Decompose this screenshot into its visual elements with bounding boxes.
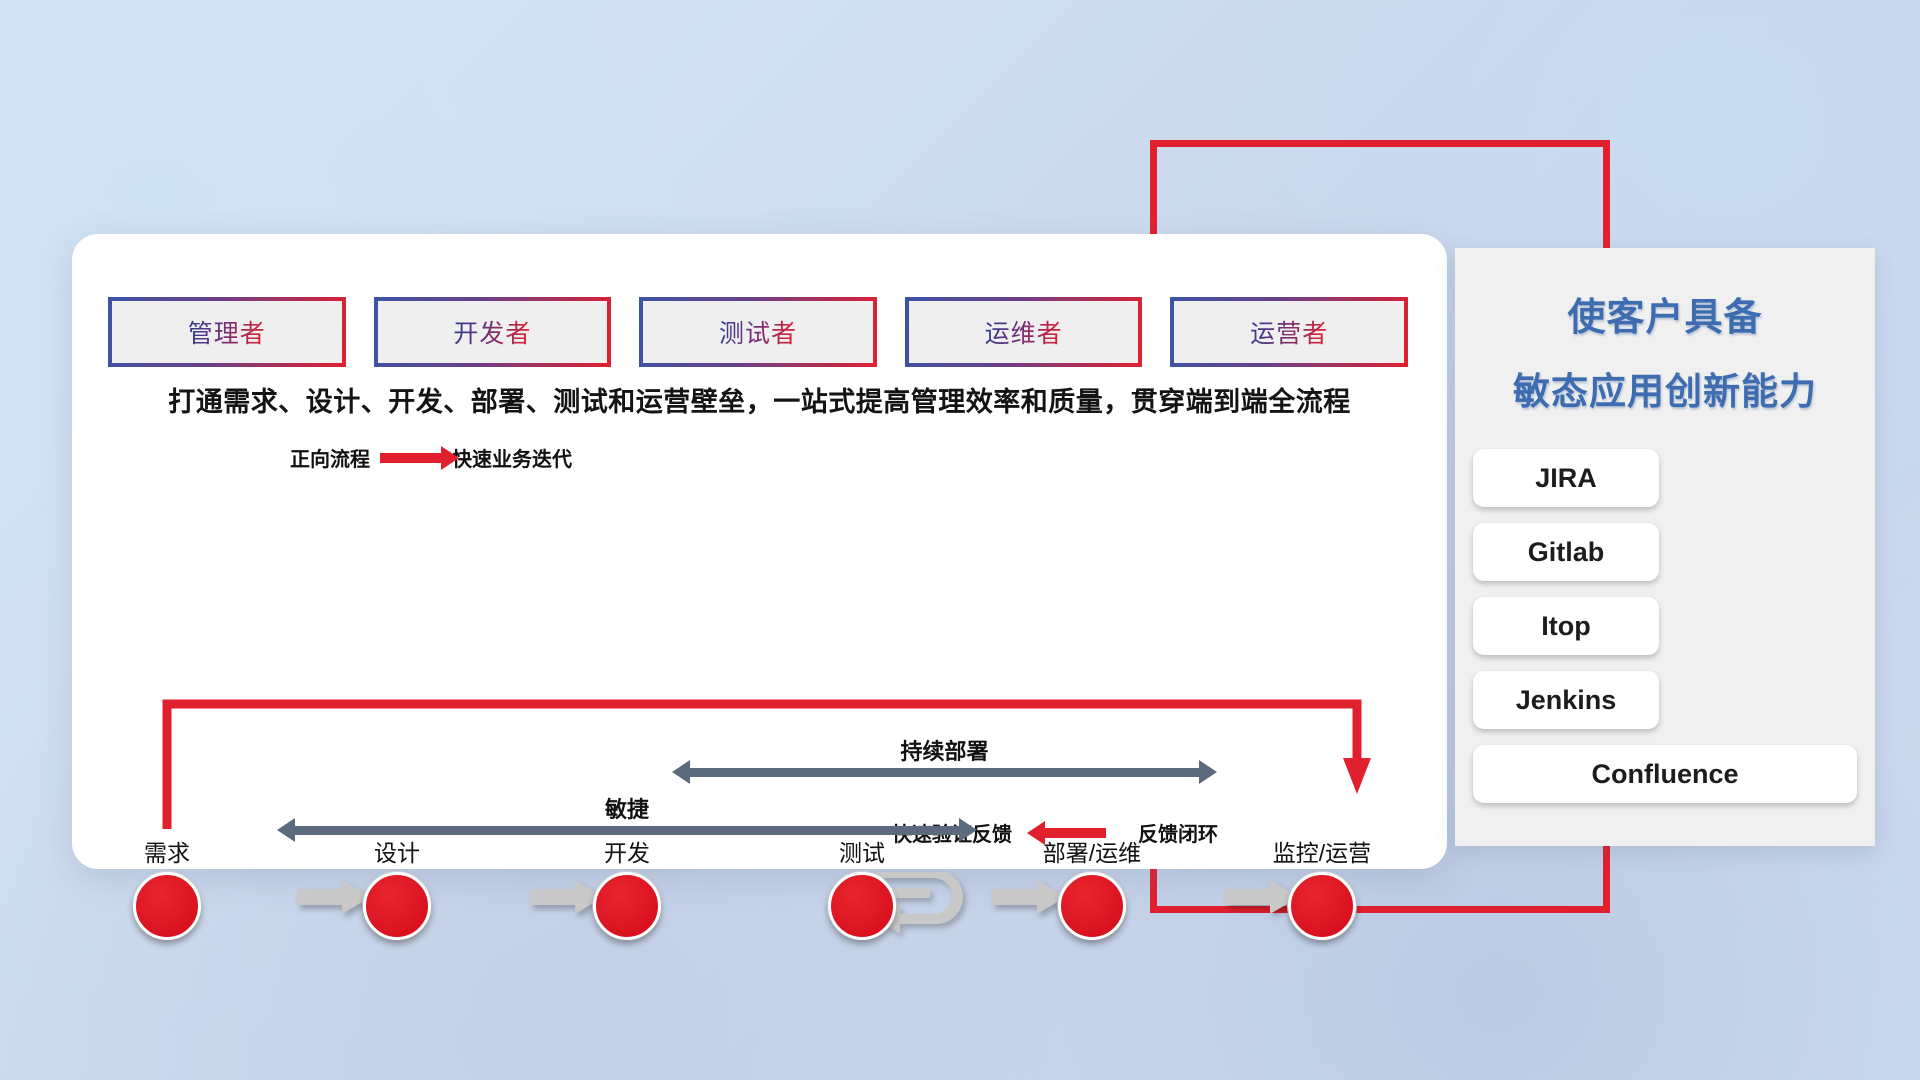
role-box-ops[interactable]: 运维者 bbox=[905, 297, 1143, 367]
pipeline-row: 需求 设计 开发 测试 部署/ bbox=[112, 834, 1412, 954]
stage-dot-icon bbox=[828, 872, 896, 940]
stage-label: 监控/运营 bbox=[1262, 834, 1382, 868]
stage-testing[interactable]: 测试 bbox=[802, 834, 922, 940]
role-label: 开发者 bbox=[453, 314, 531, 350]
stage-monitoring-operation[interactable]: 监控/运营 bbox=[1262, 834, 1382, 940]
stage-dot-icon bbox=[133, 872, 201, 940]
role-label: 测试者 bbox=[719, 314, 797, 350]
stage-dot-icon bbox=[1058, 872, 1126, 940]
span-continuous-deployment: 持续部署 bbox=[672, 734, 1217, 777]
span-agile: 敏捷 bbox=[277, 792, 977, 835]
panel-title-line-1: 使客户具备 bbox=[1455, 286, 1875, 341]
legend-forward-flow: 正向流程 快速业务迭代 bbox=[290, 443, 572, 472]
stage-development[interactable]: 开发 bbox=[567, 834, 687, 940]
double-arrow-icon bbox=[689, 768, 1200, 777]
span-label: 持续部署 bbox=[672, 734, 1217, 766]
role-label: 运营者 bbox=[1250, 314, 1328, 350]
stage-label: 部署/运维 bbox=[1032, 834, 1152, 868]
tool-chip-confluence[interactable]: Confluence bbox=[1473, 745, 1857, 803]
legend-forward-left-label: 正向流程 bbox=[290, 443, 370, 472]
stage-dot-icon bbox=[363, 872, 431, 940]
role-box-operator[interactable]: 运营者 bbox=[1170, 297, 1408, 367]
stage-dot-icon bbox=[1288, 872, 1356, 940]
tool-chip-jenkins[interactable]: Jenkins bbox=[1473, 671, 1659, 729]
stage-label: 需求 bbox=[107, 834, 227, 868]
stage-requirements[interactable]: 需求 bbox=[107, 834, 227, 940]
stage-deployment-ops[interactable]: 部署/运维 bbox=[1032, 834, 1152, 940]
tool-chip-grid: JIRA Gitlab Itop Jenkins Confluence bbox=[1455, 449, 1875, 803]
stage-dot-icon bbox=[593, 872, 661, 940]
panel-title-line-2: 敏态应用创新能力 bbox=[1455, 361, 1875, 415]
stage-label: 开发 bbox=[567, 834, 687, 868]
right-arrow-icon bbox=[380, 453, 442, 463]
main-content-card: 管理者 开发者 测试者 运维者 运营者 打通需求、设计、开发、部署、测试和运营壁… bbox=[72, 234, 1447, 869]
tool-chip-itop[interactable]: Itop bbox=[1473, 597, 1659, 655]
role-label: 运维者 bbox=[985, 314, 1063, 350]
tool-chip-gitlab[interactable]: Gitlab bbox=[1473, 523, 1659, 581]
role-box-row: 管理者 开发者 测试者 运维者 运营者 bbox=[108, 297, 1408, 367]
role-box-developer[interactable]: 开发者 bbox=[374, 297, 612, 367]
span-label: 敏捷 bbox=[277, 792, 977, 824]
role-box-manager[interactable]: 管理者 bbox=[108, 297, 346, 367]
legend-forward-right-label: 快速业务迭代 bbox=[452, 443, 572, 472]
stage-label: 测试 bbox=[802, 834, 922, 868]
stage-label: 设计 bbox=[337, 834, 457, 868]
bracket-top-line bbox=[1150, 140, 1610, 147]
role-box-tester[interactable]: 测试者 bbox=[639, 297, 877, 367]
tool-chip-jira[interactable]: JIRA bbox=[1473, 449, 1659, 507]
right-side-panel: 使客户具备 敏态应用创新能力 JIRA Gitlab Itop Jenkins … bbox=[1455, 248, 1875, 846]
role-label: 管理者 bbox=[188, 314, 266, 350]
headline-text: 打通需求、设计、开发、部署、测试和运营壁垒，一站式提高管理效率和质量，贯穿端到端… bbox=[72, 380, 1447, 419]
stage-design[interactable]: 设计 bbox=[337, 834, 457, 940]
